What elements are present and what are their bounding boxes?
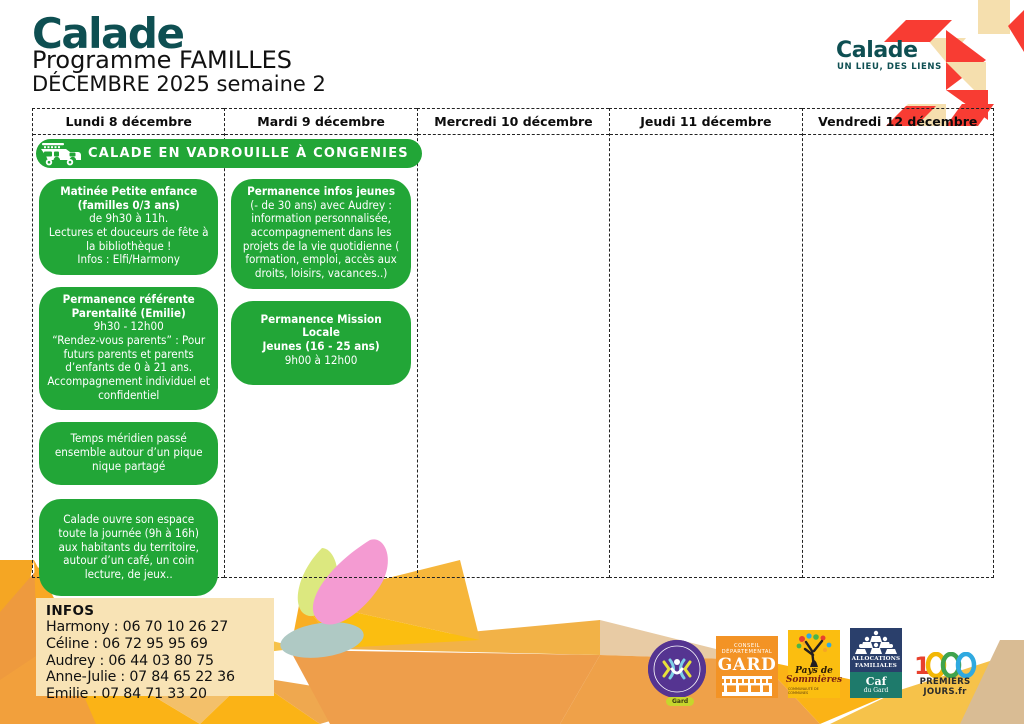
partner-logos: Gard CONSEIL DÉPARTEMENTAL GARD (648, 612, 1008, 698)
gard-badge-label: Gard (666, 697, 694, 706)
card-line: Infos : Elfi/Harmony (77, 252, 180, 266)
day-body-jeudi (610, 135, 801, 141)
premiers-jours-line2: JOURS.fr (923, 688, 966, 698)
card-line: 9h00 à 12h00 (285, 353, 358, 367)
pays-de-sommieres-logo: Pays de Sommières COMMUNAUTÉ DE COMMUNES (788, 630, 840, 698)
card-line: Permanence référente (63, 292, 195, 306)
card-line: (familles 0/3 ans) (78, 198, 180, 212)
day-header-mardi: Mardi 9 décembre (225, 109, 416, 135)
conseil-departemental-gard-logo: CONSEIL DÉPARTEMENTAL GARD (716, 636, 778, 698)
date-subtitle: DÉCEMBRE 2025 semaine 2 (32, 73, 326, 96)
card-line: Temps méridien passé ensemble autour d’u… (55, 431, 203, 472)
vadrouille-banner[interactable]: CALADE EN VADROUILLE À CONGENIES (36, 139, 422, 168)
caf-line2: Caf (866, 676, 887, 687)
day-column-mardi: Mardi 9 décembre Permanence infos jeunes… (224, 108, 416, 578)
tree-icon (792, 633, 836, 667)
day-header-mercredi: Mercredi 10 décembre (418, 109, 609, 135)
card-line: (- de 30 ans) avec Audrey : information … (243, 198, 400, 280)
camper-van-icon (36, 139, 88, 168)
corner-logo-tagline: UN LIEU, DES LIENS (837, 62, 942, 72)
infos-box: INFOS Harmony : 06 70 10 26 27 Céline : … (36, 598, 274, 696)
poster-root: Calade Programme FAMILLES DÉCEMBRE 2025 … (0, 0, 1024, 724)
card-line: Parentalité (Emilie) (72, 306, 186, 320)
card-line: “Rendez-vous parents” : Pour futurs pare… (52, 333, 205, 374)
contact-line: Harmony : 06 70 10 26 27 (46, 619, 268, 636)
contact-line: Emilie : 07 84 71 33 20 (46, 686, 268, 703)
banner-label: CALADE EN VADROUILLE À CONGENIES (88, 146, 409, 161)
day-column-mercredi: Mercredi 10 décembre (417, 108, 609, 578)
day-column-jeudi: Jeudi 11 décembre (609, 108, 801, 578)
event-card[interactable]: Permanence infos jeunes (- de 30 ans) av… (231, 179, 410, 289)
event-card[interactable]: Temps méridien passé ensemble autour d’u… (39, 422, 218, 485)
event-card[interactable]: Calade ouvre son espace toute la journée… (39, 499, 218, 595)
day-column-lundi: Lundi 8 décembre Matinée Petite enfance … (32, 108, 224, 578)
card-line: Permanence Mission Locale (261, 312, 382, 340)
pont-du-gard-icon (720, 676, 774, 696)
caf-line1: ALLOCATIONS FAMILIALES (850, 656, 902, 669)
week-schedule-grid: Lundi 8 décembre Matinée Petite enfance … (32, 108, 994, 578)
card-line: Accompagnement individuel et confidentie… (47, 374, 210, 402)
day-body-vendredi (803, 135, 993, 141)
1000-numeral-icon: 1 (913, 652, 977, 678)
card-line: Matinée Petite enfance (60, 184, 197, 198)
caf-line3: du Gard (864, 687, 889, 694)
caf-people-icon (854, 630, 898, 656)
cd-line3: GARD (718, 657, 777, 674)
event-card[interactable]: Permanence référente Parentalité (Emilie… (39, 287, 218, 410)
programme-subtitle: Programme FAMILLES (32, 48, 326, 73)
day-header-lundi: Lundi 8 décembre (33, 109, 224, 135)
contact-line: Céline : 06 72 95 95 69 (46, 636, 268, 653)
caf-du-gard-logo: ALLOCATIONS FAMILIALES Caf du Gard (850, 628, 902, 698)
convention-departements-gard-logo: Gard (648, 640, 706, 698)
card-line: 9h30 - 12h00 (94, 319, 164, 333)
1000-premiers-jours-logo: 1 PREMIERS JOURS.fr (912, 636, 978, 698)
card-line: de 9h30 à 11h. (89, 211, 168, 225)
corner-logo-name: Calade (836, 38, 918, 63)
calade-corner-logo: Calade UN LIEU, DES LIENS (826, 6, 1006, 118)
event-card[interactable]: Permanence Mission Locale Jeunes (16 - 2… (231, 301, 410, 386)
day-column-vendredi: Vendredi 12 décembre (802, 108, 994, 578)
contact-line: Audrey : 06 44 03 80 75 (46, 653, 268, 670)
pays-line3: COMMUNAUTÉ DE COMMUNES (788, 687, 840, 695)
day-body-mardi: Permanence infos jeunes (- de 30 ans) av… (225, 135, 416, 385)
card-line: Lectures et douceurs de fête à la biblio… (49, 225, 209, 253)
pays-line2: Sommières (786, 676, 842, 685)
infos-title: INFOS (46, 603, 268, 619)
day-body-mercredi (418, 135, 609, 141)
day-header-jeudi: Jeudi 11 décembre (610, 109, 801, 135)
contact-line: Anne-Julie : 07 84 65 22 36 (46, 669, 268, 686)
day-body-lundi: Matinée Petite enfance (familles 0/3 ans… (33, 135, 224, 596)
card-line: Calade ouvre son espace toute la journée… (58, 512, 199, 581)
page-header: Calade Programme FAMILLES DÉCEMBRE 2025 … (32, 14, 326, 96)
card-line: Permanence infos jeunes (247, 184, 395, 198)
card-line: Jeunes (16 - 25 ans) (262, 339, 379, 353)
event-card[interactable]: Matinée Petite enfance (familles 0/3 ans… (39, 179, 218, 275)
